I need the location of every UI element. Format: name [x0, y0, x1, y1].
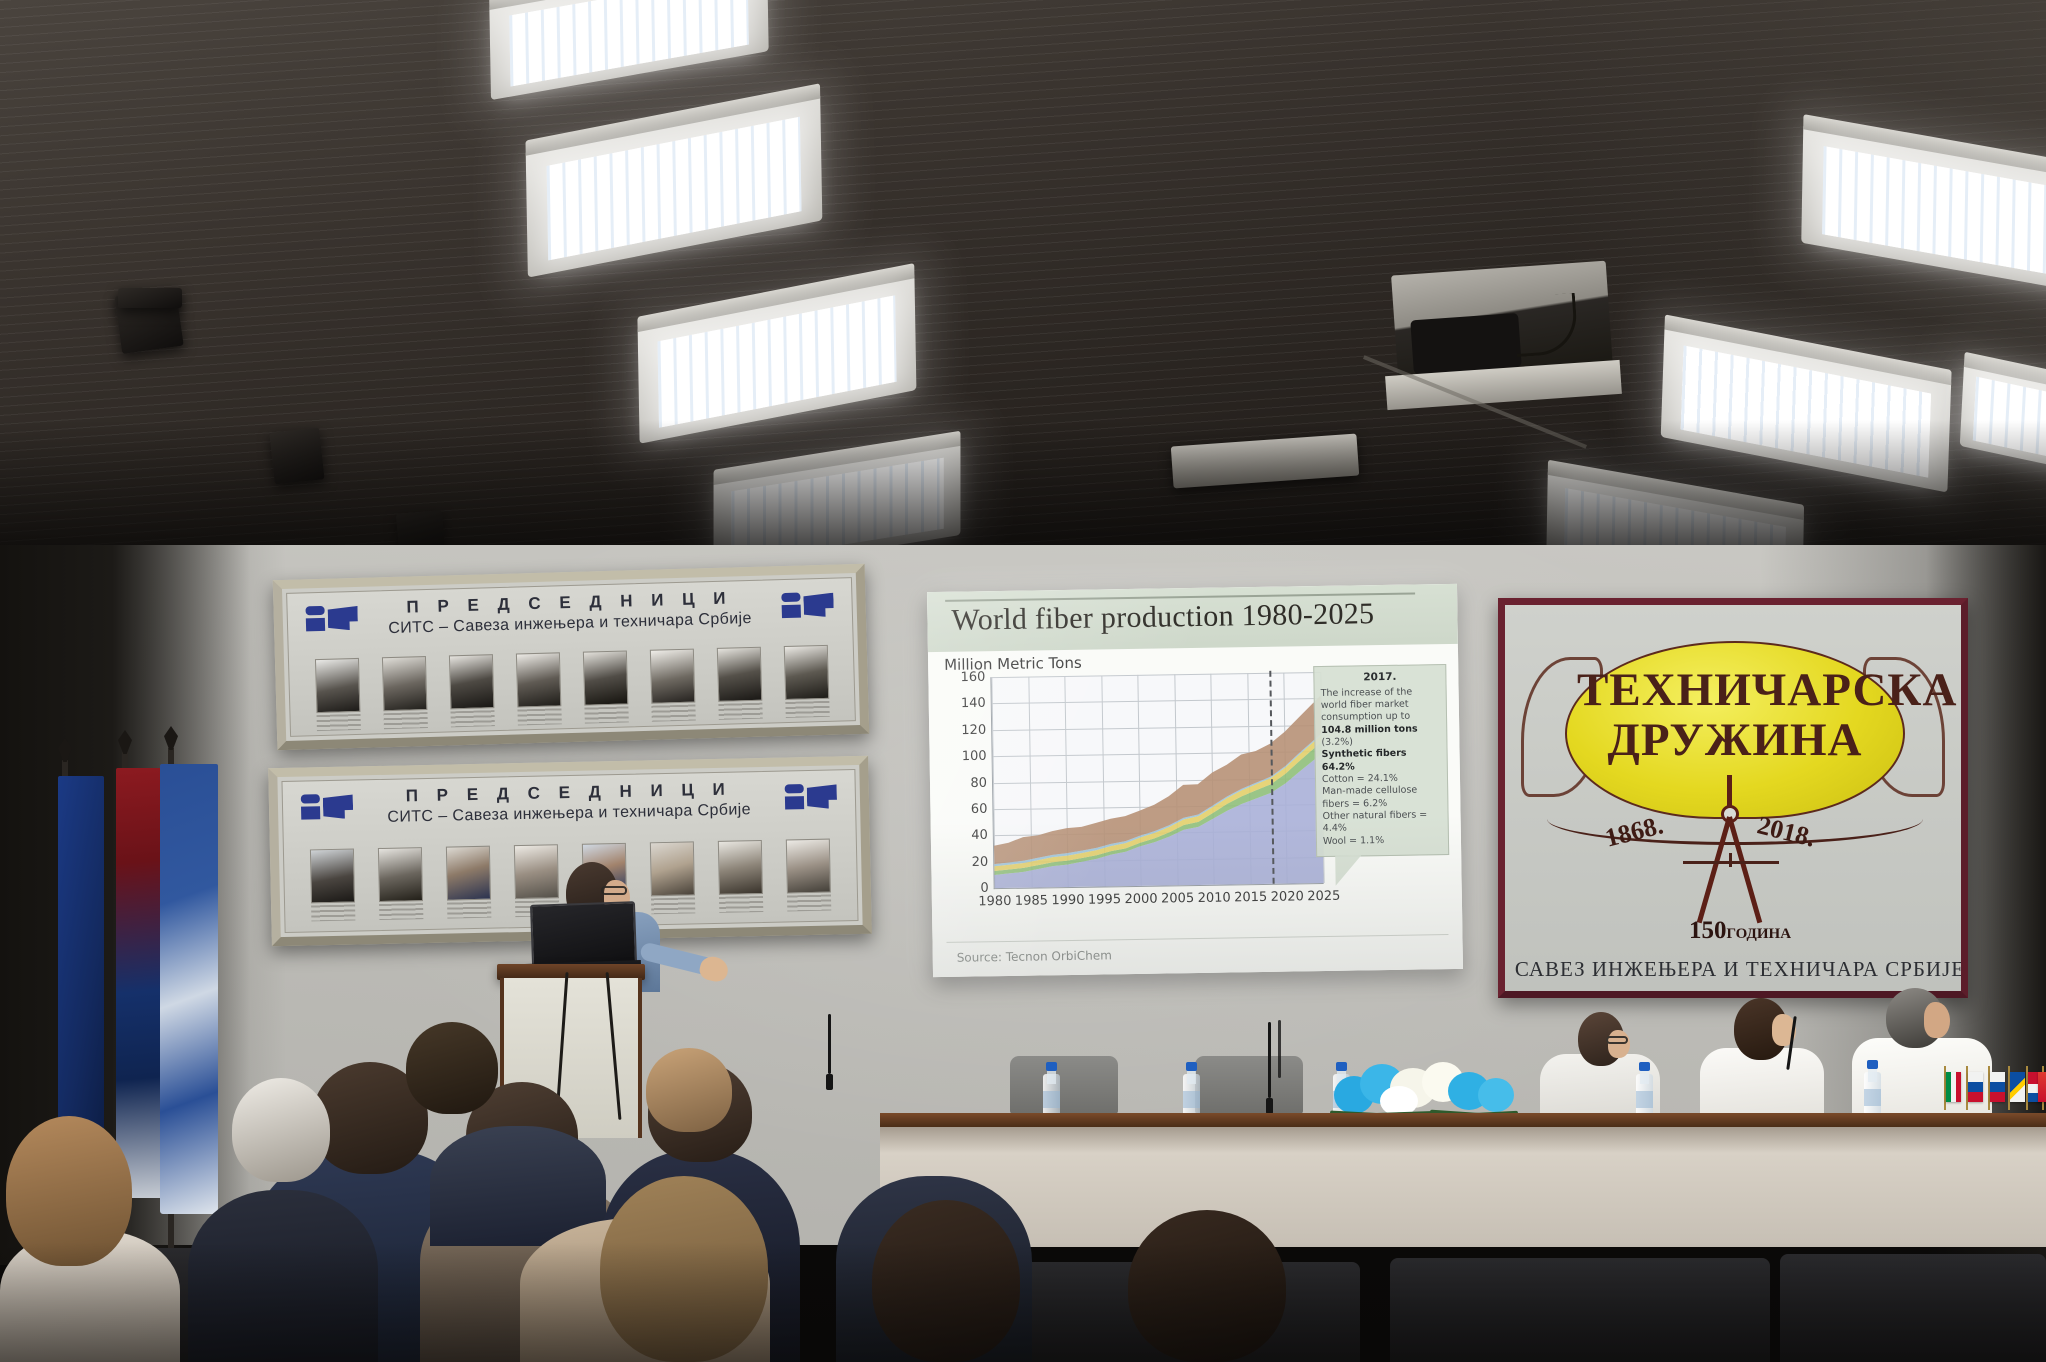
callout-line3-prefix: up to	[1385, 711, 1410, 722]
y-tick: 120	[961, 723, 986, 738]
y-tick: 100	[962, 749, 987, 764]
portrait	[446, 846, 491, 919]
audience-head	[646, 1048, 732, 1132]
flower-arrangement	[1330, 1056, 1518, 1118]
lectern-laptop[interactable]	[530, 901, 637, 967]
audience-member	[188, 1190, 378, 1362]
audience-head	[6, 1116, 132, 1266]
chart-callout: 2017. The increase of the world fiber ma…	[1313, 664, 1449, 857]
ceiling-speaker	[118, 288, 182, 308]
microphone-base	[826, 1074, 833, 1090]
sits-logo-icon	[781, 592, 834, 619]
microphone[interactable]	[1278, 1020, 1281, 1078]
desk-flag	[1990, 1072, 2005, 1102]
slide-body: Million Metric Tons	[928, 644, 1463, 977]
callout-tail	[1335, 856, 1361, 886]
x-tick: 1990	[1051, 893, 1084, 909]
technicarska-druzina-emblem: ТЕХНИЧАРСКА ДРУЖИНА 1868. 2018. 150ГОДИН…	[1498, 598, 1968, 998]
audience-head	[872, 1200, 1020, 1362]
portrait-strip	[289, 644, 855, 732]
callout-line3-value: 104.8 million tons	[1321, 723, 1418, 736]
presentation-slide: World fiber production 1980-2025 Million…	[927, 584, 1463, 977]
chart-source: Source: Tecnon OrbiChem	[957, 948, 1112, 964]
microphone[interactable]	[1268, 1022, 1271, 1098]
callout-synthetic: Synthetic fibers 64.2%	[1322, 748, 1407, 773]
emblem-line1: ТЕХНИЧАРСКА	[1577, 663, 1893, 717]
x-tick: 2000	[1124, 892, 1157, 908]
slide-footer-rule	[947, 934, 1449, 943]
portrait	[314, 658, 360, 731]
presenter-glasses-icon	[601, 886, 627, 895]
portrait	[716, 647, 762, 720]
desk-flag	[2010, 1072, 2025, 1102]
callout-cellulose-value: = 6.2%	[1352, 798, 1387, 810]
head-table-shadow	[880, 1127, 2046, 1153]
portrait	[582, 650, 628, 723]
portrait	[515, 652, 561, 725]
portrait	[718, 840, 763, 913]
callout-cotton: Cotton = 24.1%	[1322, 773, 1398, 785]
microphone-base	[1266, 1098, 1273, 1114]
audience-head	[232, 1078, 330, 1182]
portrait	[381, 656, 427, 729]
x-tick: 2015	[1234, 890, 1267, 906]
callout-year: 2017.	[1320, 670, 1439, 686]
sits-logo-icon	[305, 605, 358, 632]
audience-head	[600, 1176, 768, 1362]
compass-stem-icon	[1727, 775, 1732, 809]
panel-chair[interactable]	[1010, 1056, 1118, 1114]
audience-head	[406, 1022, 498, 1114]
x-tick: 2005	[1161, 891, 1194, 907]
panelist-glasses-icon	[1606, 1036, 1628, 1044]
portrait	[310, 849, 355, 922]
x-tick: 2020	[1271, 889, 1304, 905]
portrait	[650, 841, 695, 914]
water-bottle[interactable]	[1043, 1062, 1060, 1118]
water-bottle[interactable]	[1183, 1062, 1200, 1118]
y-tick: 20	[972, 854, 989, 869]
water-bottle[interactable]	[1636, 1062, 1653, 1118]
sits-logo-icon	[785, 783, 838, 810]
seat-row[interactable]	[1780, 1254, 2046, 1362]
callout-line4: (3.2%)	[1321, 737, 1353, 748]
conference-hall-photo: П Р Е Д С Е Д Н И Ц И СИТС – Савеза инже…	[0, 0, 2046, 1362]
portrait	[649, 649, 695, 722]
water-bottle[interactable]	[1864, 1060, 1881, 1116]
panel-title: П Р Е Д С Е Д Н И Ц И СИТС – Савеза инже…	[282, 770, 855, 829]
seat-row[interactable]	[1390, 1258, 1770, 1362]
y-tick: 80	[970, 775, 987, 790]
panel-chair[interactable]	[1195, 1056, 1303, 1114]
portrait	[378, 847, 423, 920]
emblem-line2: ДРУЖИНА	[1577, 713, 1893, 767]
panel-title: П Р Е Д С Е Д Н И Ц И СИТС – Савеза инже…	[287, 578, 852, 641]
x-tick: 1995	[1088, 892, 1121, 908]
emblem-anniversary-word: ГОДИНА	[1726, 926, 1791, 942]
sits-logo-icon	[301, 794, 354, 821]
y-tick: 60	[971, 802, 988, 817]
fiber-production-chart: 160 140 120 100 80 60 40 20 0 1980 1985 …	[990, 672, 1323, 889]
x-tick: 2010	[1198, 890, 1231, 906]
y-tick: 140	[961, 696, 986, 711]
emblem-footer: САВЕЗ ИНЖЕЊЕРА И ТЕХНИЧАРА СРБИЈЕ	[1505, 957, 1968, 982]
portrait	[783, 645, 829, 718]
microphone[interactable]	[828, 1014, 831, 1074]
x-tick: 2025	[1307, 889, 1340, 905]
callout-wool: Wool = 1.1%	[1323, 835, 1384, 847]
y-tick: 40	[971, 828, 988, 843]
presidents-panel-bw: П Р Е Д С Е Д Н И Ц И СИТС – Савеза инже…	[273, 564, 870, 750]
emblem-anniversary-number: 150	[1689, 917, 1727, 944]
panelist	[1700, 998, 1824, 1124]
compass-tick-icon	[1729, 853, 1732, 867]
audience-head	[1128, 1210, 1286, 1362]
y-tick: 160	[960, 670, 985, 685]
x-tick: 1980	[978, 894, 1011, 910]
desk-flag	[1968, 1072, 1983, 1102]
portrait	[786, 839, 831, 912]
projection-screen: World fiber production 1980-2025 Million…	[927, 584, 1463, 977]
emblem-anniversary: 150ГОДИНА	[1505, 917, 1968, 945]
slide-title: World fiber production 1980-2025	[951, 596, 1445, 638]
desk-flag	[1946, 1072, 1961, 1102]
x-tick: 1985	[1015, 893, 1048, 909]
callout-other-natural: Other natural fibers = 4.4%	[1322, 809, 1427, 834]
portrait	[448, 654, 494, 727]
desk-flag	[2038, 1072, 2046, 1102]
